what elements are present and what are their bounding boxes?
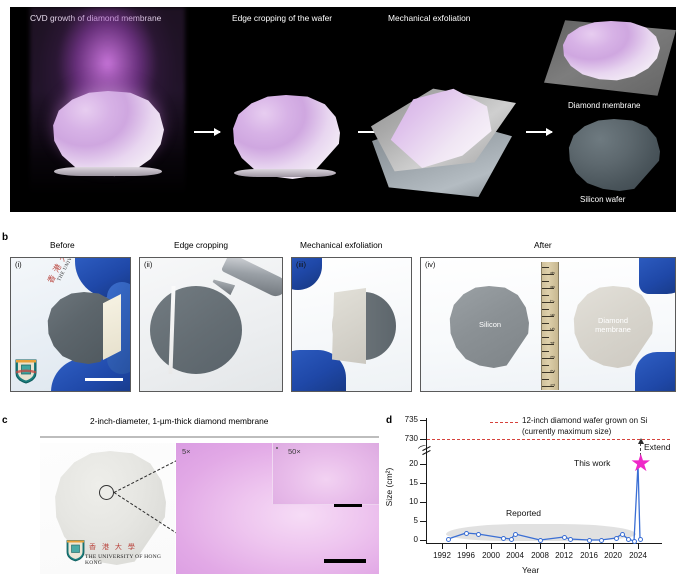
panel-b-photo-iv: Silicon 9 8 7 6 5 4 3 xyxy=(420,257,676,392)
panel-c-divider xyxy=(40,436,379,438)
silicon-wafer-label: Silicon xyxy=(459,320,521,329)
data-point-2003 xyxy=(509,537,514,542)
x-axis-title: Year xyxy=(522,565,539,575)
data-point-2018 xyxy=(599,538,604,543)
data-point-2004 xyxy=(513,532,518,537)
panel-b-photo-i: 香 港 大 學 THE UNIVERSITY OF HONG KONG (i) xyxy=(10,257,131,392)
cropped-wafer xyxy=(232,95,340,179)
scale-bar-50x xyxy=(334,504,362,507)
cropped-wafer-rim xyxy=(234,169,336,177)
lifted-diamond-membrane xyxy=(332,288,366,364)
panel-b-letter: b xyxy=(2,232,8,243)
c-crest-english: THE UNIVERSITY OF HONG KONG xyxy=(85,554,175,566)
data-point-2020 xyxy=(614,536,619,541)
panel-b-roman-iv: (iv) xyxy=(425,260,435,269)
magnification-label-5x: 5× xyxy=(182,447,191,456)
data-point-2012 xyxy=(562,535,567,540)
diamond-membrane-label-line2: membrane xyxy=(595,325,631,334)
y-axis-title: Size (cm²) xyxy=(384,456,394,518)
ruler-num-2: 2 xyxy=(550,370,556,373)
cvd-wafer-rim xyxy=(54,167,162,176)
ruler-num-9: 9 xyxy=(550,272,556,275)
data-point-1993 xyxy=(446,537,451,542)
ruler-num-7: 7 xyxy=(550,300,556,303)
panel-b-photo-iii: (iii) xyxy=(291,257,412,392)
panel-a-step3-title: Mechanical exfoliation xyxy=(388,13,470,23)
data-point-2008 xyxy=(538,538,543,543)
figure-root: a CVD growth of diamond membrane Edge cr… xyxy=(0,0,685,581)
panel-b-title-after: After xyxy=(534,240,552,250)
data-point-2023 xyxy=(632,539,637,544)
ruler-num-1: 1 xyxy=(550,384,556,387)
data-point-2021 xyxy=(620,532,625,537)
panel-b-roman-iii: (iii) xyxy=(296,260,306,269)
panel-b-title-before: Before xyxy=(50,240,75,250)
panel-a-membrane-caption: Diamond membrane xyxy=(568,101,640,110)
zoom-callout-circle xyxy=(99,485,114,500)
wafer-exposed-edge xyxy=(103,294,121,360)
result-silicon-wafer xyxy=(568,119,660,191)
wafer-being-cropped xyxy=(150,286,242,374)
arrow-step3-to-4 xyxy=(526,131,552,133)
data-point-2022 xyxy=(626,537,631,542)
glove-iv-topright xyxy=(639,257,676,294)
panel-c-wafer-photo: 香 港 大 學 THE UNIVERSITY OF HONG KONG xyxy=(40,443,175,574)
data-point-2016 xyxy=(587,538,592,543)
panel-c-micrograph: 5× 50× xyxy=(176,443,379,574)
panel-a-wafer-caption: Silicon wafer xyxy=(580,195,625,204)
data-point-2024-low xyxy=(638,537,643,542)
scale-bar-i xyxy=(85,378,123,381)
micrograph-dust-spot xyxy=(276,447,278,449)
hku-crest-icon-c xyxy=(66,539,85,562)
panel-b-roman-ii: (ii) xyxy=(144,260,152,269)
reported-annotation: Reported xyxy=(506,508,541,518)
c-crest-chinese: 香 港 大 學 xyxy=(89,542,137,552)
data-point-1998 xyxy=(476,532,481,537)
panel-c-title: 2-inch-diameter, 1-µm-thick diamond memb… xyxy=(90,416,268,426)
panel-b-title-mechanical-exfoliation: Mechanical exfoliation xyxy=(300,240,382,250)
panel-b-photo-ii: (ii) xyxy=(139,257,283,392)
panel-a-step2-title: Edge cropping of the wafer xyxy=(232,13,332,23)
data-point-1996 xyxy=(464,531,469,536)
glove-iv-bottomright xyxy=(635,352,676,392)
this-work-star-marker: ★ xyxy=(630,452,652,476)
ruler-num-4: 4 xyxy=(550,342,556,345)
magnification-label-50x: 50× xyxy=(288,447,301,456)
arrow-step1-to-2 xyxy=(194,131,220,133)
panel-a-schematic: CVD growth of diamond membrane Edge crop… xyxy=(10,7,676,212)
ruler: 9 8 7 6 5 4 3 2 1 xyxy=(541,262,559,390)
diamond-membrane-label-line1: Diamond xyxy=(598,316,628,325)
panel-b-title-edge-cropping: Edge cropping xyxy=(174,240,228,250)
hku-crest-icon xyxy=(15,358,37,384)
ruler-num-3: 3 xyxy=(550,356,556,359)
diamond-membrane-label: Diamond membrane xyxy=(581,316,645,334)
panel-c-letter: c xyxy=(2,415,8,426)
panel-a-letter: a xyxy=(2,6,8,17)
this-work-annotation: This work xyxy=(574,458,610,468)
ruler-num-8: 8 xyxy=(550,286,556,289)
data-point-2002 xyxy=(501,536,506,541)
ruler-num-6: 6 xyxy=(550,314,556,317)
data-point-2013 xyxy=(568,537,573,542)
ruler-num-5: 5 xyxy=(550,328,556,331)
panel-d-chart: 12-inch diamond wafer grown on Si (curre… xyxy=(382,412,682,581)
panel-b-roman-i: (i) xyxy=(15,260,22,269)
scale-bar-5x xyxy=(324,559,366,563)
